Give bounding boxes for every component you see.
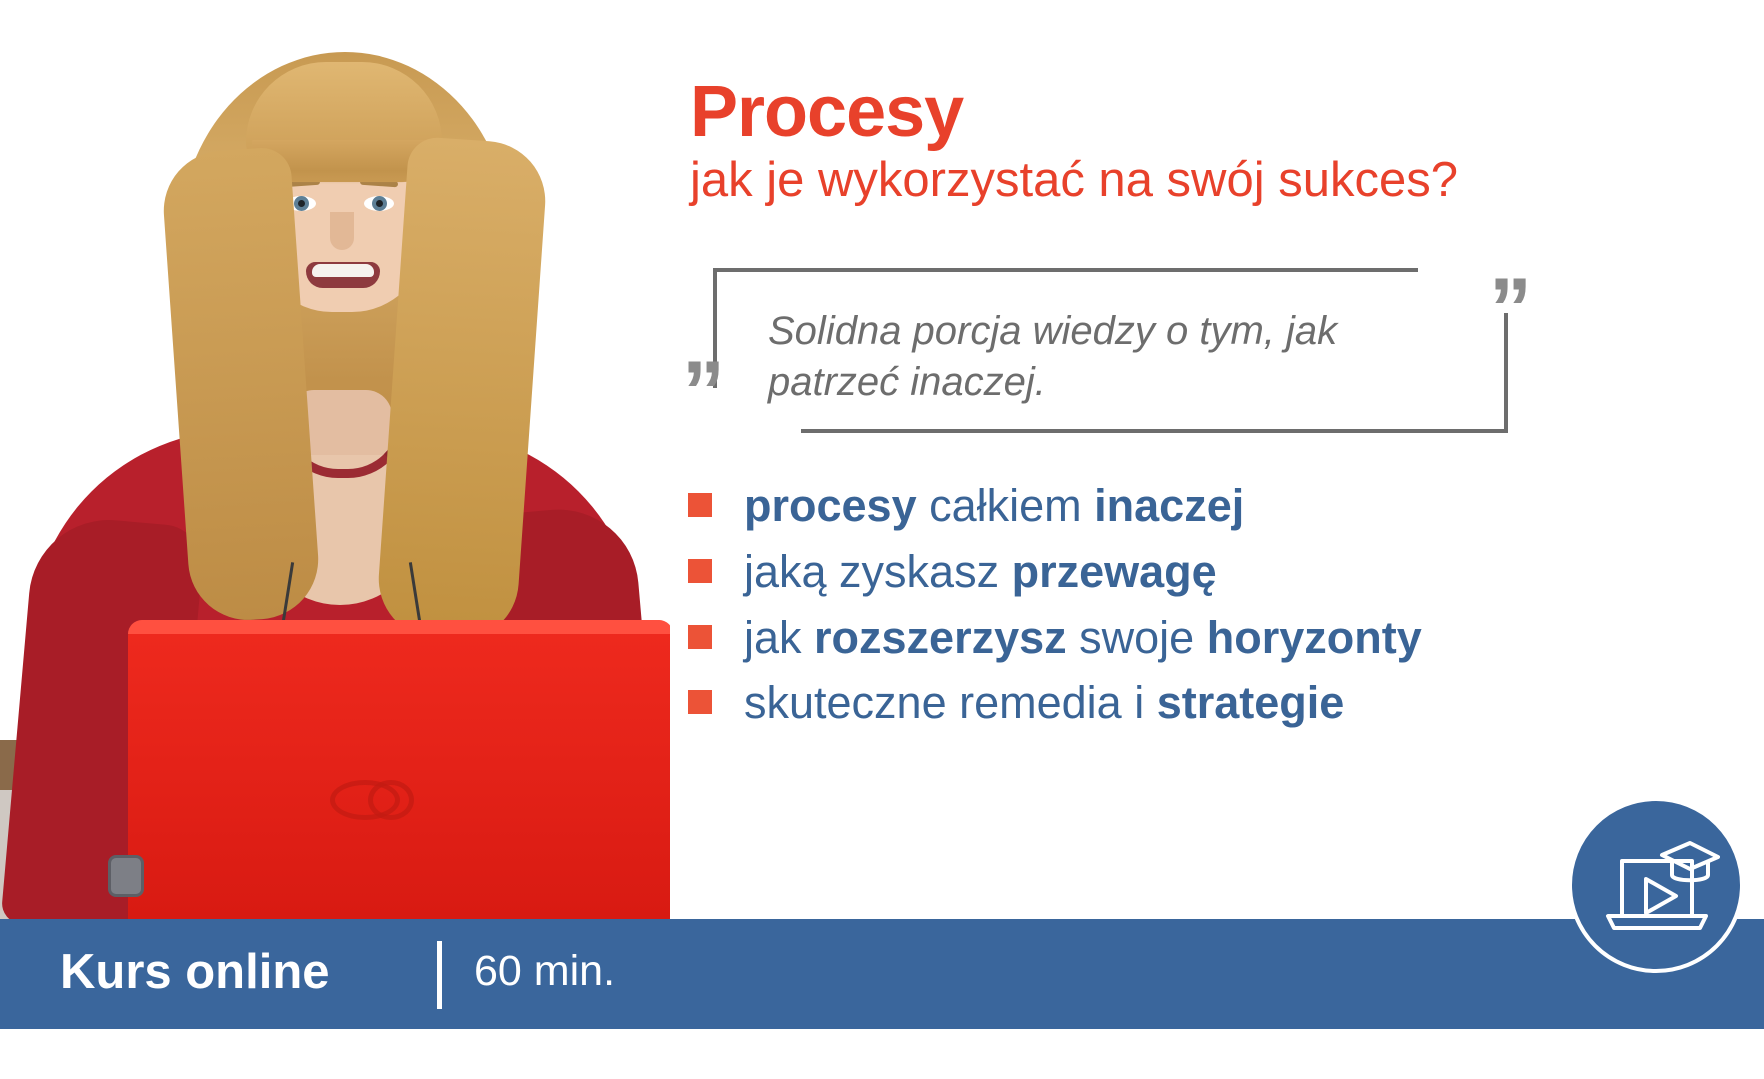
content-column: Procesy jak je wykorzystać na swój sukce… <box>668 0 1764 920</box>
list-item: jak rozszerzysz swoje horyzonty <box>688 610 1758 666</box>
quote-block: ” ” Solidna porcja wiedzy o tym, jak pat… <box>688 268 1528 433</box>
list-item-emphasis: inaczej <box>1094 480 1244 531</box>
bullet-square-icon <box>688 690 712 714</box>
list-item-emphasis: rozszerzysz <box>814 612 1079 663</box>
list-item-emphasis: przewagę <box>1012 546 1217 597</box>
quote-border-bottom <box>801 429 1508 433</box>
list-item-plain: skuteczne remedia i <box>744 677 1157 728</box>
list-item: jaką zyskasz przewagę <box>688 544 1758 600</box>
laptop-lid-edge <box>128 620 670 634</box>
quote-text: Solidna porcja wiedzy o tym, jak patrzeć… <box>768 306 1468 408</box>
right-pupil <box>376 200 383 207</box>
list-item-emphasis: horyzonty <box>1207 612 1422 663</box>
list-item-label: procesy całkiem inaczej <box>744 478 1244 534</box>
footer-whitespace <box>0 1029 1764 1079</box>
benefit-list: procesy całkiem inaczejjaką zyskasz prze… <box>688 478 1758 741</box>
wristwatch <box>108 855 144 897</box>
left-pupil <box>298 200 305 207</box>
footer-divider <box>437 941 442 1009</box>
list-item-plain: jak <box>744 612 814 663</box>
bullet-square-icon <box>688 493 712 517</box>
list-item-label: jak rozszerzysz swoje horyzonty <box>744 610 1422 666</box>
list-item-plain: jaką zyskasz <box>744 546 1012 597</box>
presenter-photo <box>0 0 670 920</box>
page-title: Procesy <box>690 76 963 148</box>
footer-bar: Kurs online 60 min. <box>0 919 1764 1029</box>
course-promo-card: Procesy jak je wykorzystać na swój sukce… <box>0 0 1764 1079</box>
laptop-brand-logo-icon-2 <box>368 780 414 820</box>
list-item: skuteczne remedia i strategie <box>688 675 1758 731</box>
list-item-emphasis: procesy <box>744 480 929 531</box>
bullet-square-icon <box>688 625 712 649</box>
quote-mark-bottom-left-icon: ” <box>682 367 725 419</box>
page-subtitle: jak je wykorzystać na swój sukces? <box>690 155 1458 206</box>
quote-mark-top-right-icon: ” <box>1489 284 1532 336</box>
online-course-badge-icon <box>1568 797 1744 973</box>
bullet-square-icon <box>688 559 712 583</box>
red-laptop-lid <box>128 620 670 920</box>
list-item-plain: całkiem <box>929 480 1094 531</box>
course-type-label: Kurs online <box>60 944 330 1000</box>
teeth <box>312 264 374 277</box>
list-item-label: jaką zyskasz przewagę <box>744 544 1217 600</box>
list-item-plain: swoje <box>1079 612 1207 663</box>
list-item: procesy całkiem inaczej <box>688 478 1758 534</box>
list-item-emphasis: strategie <box>1157 677 1345 728</box>
quote-border-top <box>713 268 1418 272</box>
list-item-label: skuteczne remedia i strategie <box>744 675 1344 731</box>
nose <box>330 212 354 250</box>
course-duration-label: 60 min. <box>474 947 615 996</box>
